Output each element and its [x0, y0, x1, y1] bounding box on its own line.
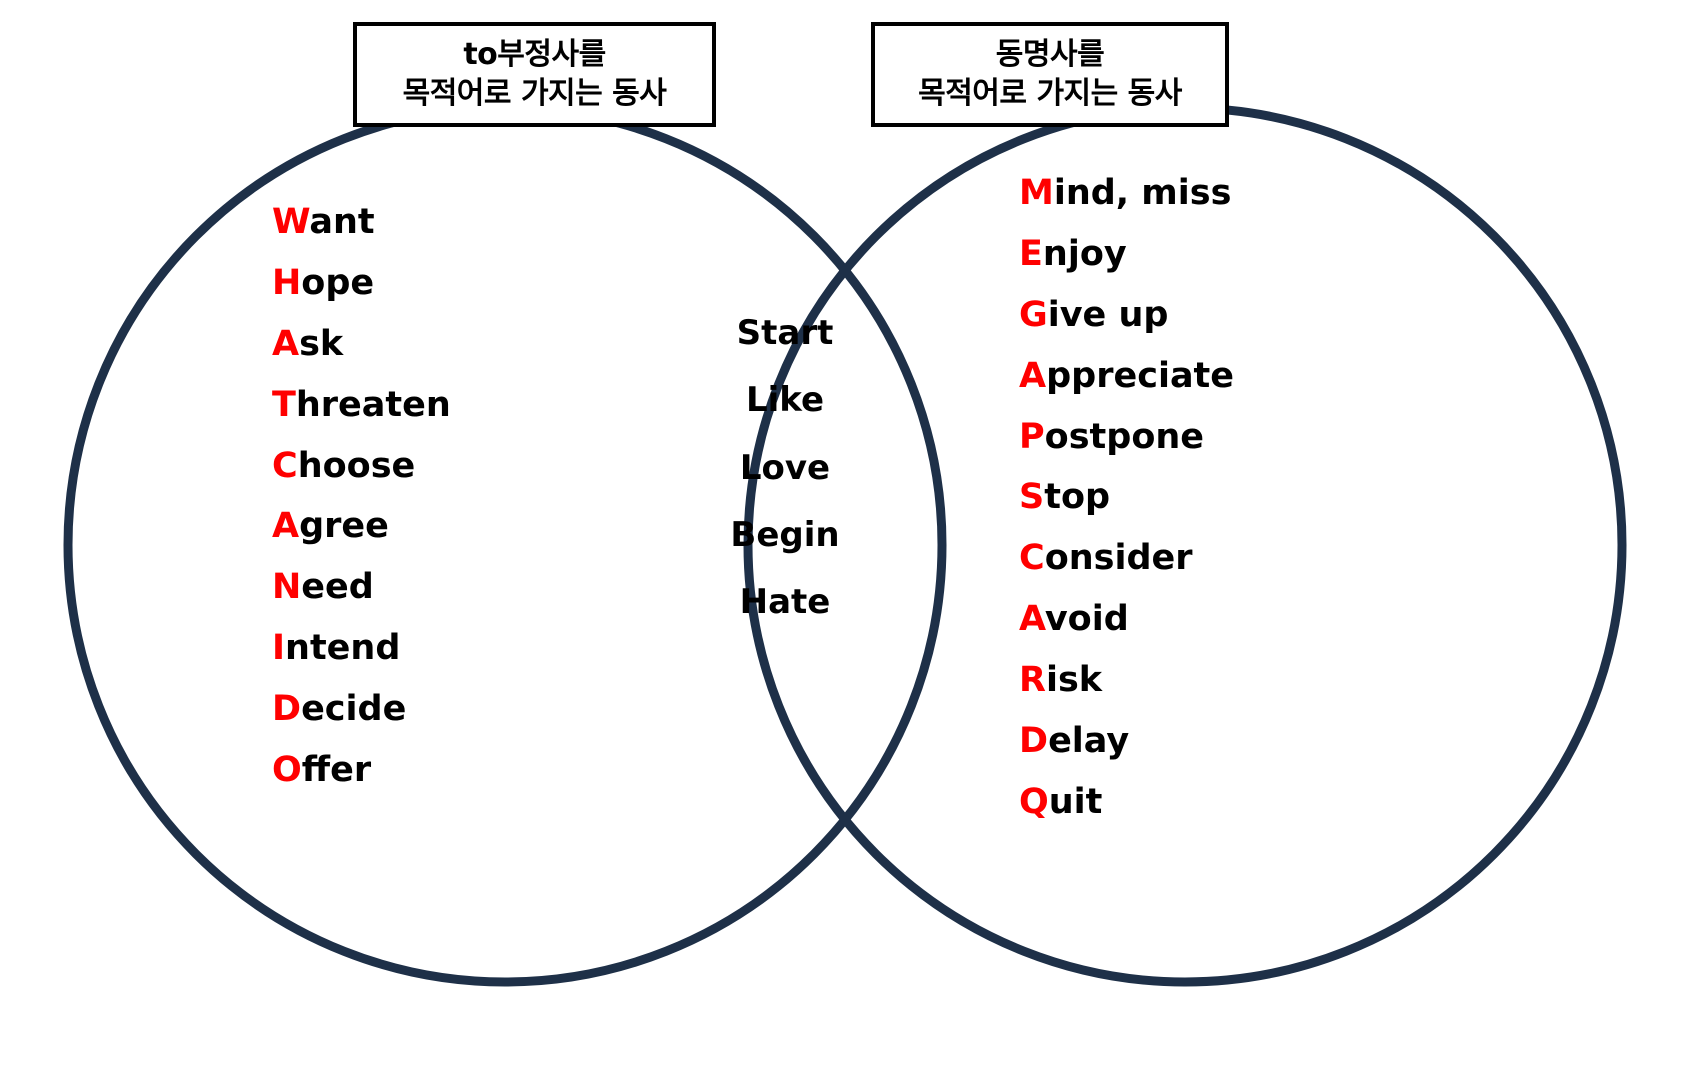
word-initial: I	[272, 628, 285, 668]
word-item: Start	[655, 300, 915, 367]
word-initial: A	[272, 324, 299, 364]
word-item: Offer	[272, 740, 592, 801]
left-set-word-list: Want Hope Ask Threaten Choose Agree Need…	[272, 192, 592, 801]
word-rest: eed	[301, 567, 374, 607]
right-set-label-line2: 목적어로 가지는 동사	[918, 75, 1182, 113]
word-initial: S	[1019, 477, 1044, 517]
word-rest: hoose	[298, 446, 416, 486]
word-item: Delay	[1019, 711, 1359, 772]
word-item: Love	[655, 435, 915, 502]
word-item: Intend	[272, 618, 592, 679]
word-rest: ive up	[1048, 295, 1169, 335]
word-initial: A	[1019, 599, 1045, 639]
word-item: Threaten	[272, 375, 592, 436]
word-initial: Q	[1019, 782, 1049, 822]
word-item: Want	[272, 192, 592, 253]
word-rest: ffer	[302, 750, 371, 790]
word-initial: D	[272, 689, 301, 729]
word-rest: ind, miss	[1054, 173, 1232, 213]
word-item: Choose	[272, 436, 592, 497]
word-rest: uit	[1049, 782, 1103, 822]
word-rest: isk	[1046, 660, 1102, 700]
word-initial: D	[1019, 721, 1048, 761]
word-initial: M	[1019, 173, 1054, 213]
word-rest: Begin	[730, 515, 839, 555]
word-item: Hope	[272, 253, 592, 314]
word-rest: ecide	[301, 689, 406, 729]
word-item: Give up	[1019, 285, 1359, 346]
word-rest: ntend	[285, 628, 400, 668]
word-rest: Love	[740, 448, 830, 488]
word-initial: N	[272, 567, 301, 607]
word-rest: sk	[299, 324, 343, 364]
word-initial: C	[1019, 538, 1045, 578]
word-initial: C	[272, 446, 298, 486]
word-item: Mind, miss	[1019, 163, 1359, 224]
word-item: Quit	[1019, 772, 1359, 833]
word-initial: W	[272, 202, 309, 242]
word-initial: G	[1019, 295, 1048, 335]
word-item: Agree	[272, 496, 592, 557]
word-initial: H	[272, 263, 301, 303]
word-item: Begin	[655, 502, 915, 569]
word-rest: gree	[299, 506, 389, 546]
word-rest: elay	[1048, 721, 1129, 761]
word-item: Appreciate	[1019, 346, 1359, 407]
right-set-label-line1: 동명사를	[996, 36, 1104, 74]
word-rest: ant	[309, 202, 374, 242]
word-rest: hreaten	[296, 385, 451, 425]
word-initial: E	[1019, 234, 1043, 274]
word-rest: top	[1044, 477, 1110, 517]
intersection-word-list: Start Like Love Begin Hate	[655, 300, 915, 637]
word-rest: ostpone	[1045, 417, 1204, 457]
word-item: Enjoy	[1019, 224, 1359, 285]
word-item: Like	[655, 367, 915, 434]
word-rest: void	[1045, 599, 1129, 639]
word-item: Stop	[1019, 467, 1359, 528]
word-item: Need	[272, 557, 592, 618]
right-set-label: 동명사를 목적어로 가지는 동사	[871, 22, 1229, 127]
word-item: Risk	[1019, 650, 1359, 711]
word-rest: Like	[746, 380, 824, 420]
word-item: Hate	[655, 569, 915, 636]
venn-diagram-canvas: to부정사를 목적어로 가지는 동사 동명사를 목적어로 가지는 동사 Want…	[0, 0, 1692, 1073]
word-initial: O	[272, 750, 302, 790]
left-set-label-line2: 목적어로 가지는 동사	[403, 75, 667, 113]
word-item: Avoid	[1019, 589, 1359, 650]
word-initial: P	[1019, 417, 1045, 457]
word-item: Ask	[272, 314, 592, 375]
left-set-label-line1: to부정사를	[463, 36, 605, 74]
word-rest: njoy	[1043, 234, 1127, 274]
word-rest: Start	[737, 313, 834, 353]
word-item: Postpone	[1019, 407, 1359, 468]
word-rest: ope	[301, 263, 374, 303]
word-initial: T	[272, 385, 296, 425]
word-initial: A	[1019, 356, 1046, 396]
right-set-word-list: Mind, miss Enjoy Give up Appreciate Post…	[1019, 163, 1359, 833]
word-item: Consider	[1019, 528, 1359, 589]
word-rest: ppreciate	[1046, 356, 1234, 396]
word-item: Decide	[272, 679, 592, 740]
word-initial: A	[272, 506, 299, 546]
word-rest: onsider	[1045, 538, 1193, 578]
left-set-label: to부정사를 목적어로 가지는 동사	[353, 22, 716, 127]
word-initial: R	[1019, 660, 1046, 700]
word-rest: Hate	[740, 582, 831, 622]
